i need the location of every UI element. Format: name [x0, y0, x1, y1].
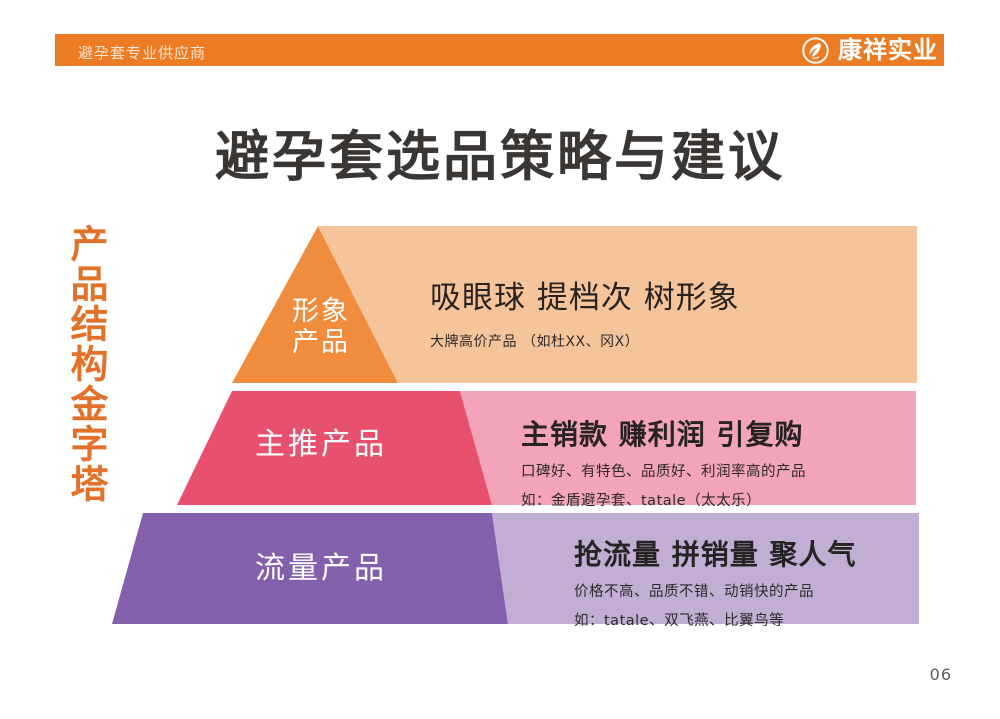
tier-2-label: 主推产品 — [238, 428, 404, 463]
tier-3-text-block: 抢流量 拼销量 聚人气 价格不高、品质不错、动销快的产品 如：tatale、双飞… — [574, 533, 857, 630]
tier-3-sub-line-1: 价格不高、品质不错、动销快的产品 — [574, 580, 857, 601]
tier-1-sub-line-1: 大牌高价产品 （如杜XX、冈X） — [430, 331, 740, 351]
tier-2-headline: 主销款 赚利润 引复购 — [521, 413, 806, 453]
swirl-leaf-logo-icon — [802, 37, 829, 64]
tier-3-label: 流量产品 — [238, 552, 404, 587]
slide-root: 避孕套专业供应商 康祥实业 避孕套选品策略与建议 产品结构金字塔 形象 产品 主… — [0, 0, 1000, 719]
tier-1-label: 形象 产品 — [276, 296, 366, 358]
tier-1-headline: 吸眼球 提档次 树形象 — [430, 272, 740, 317]
tier-3-headline: 抢流量 拼销量 聚人气 — [574, 533, 857, 573]
brand-name: 康祥实业 — [838, 38, 938, 62]
header-tagline: 避孕套专业供应商 — [78, 42, 206, 63]
tier-3-sub-line-2: 如：tatale、双飞燕、比翼鸟等 — [574, 609, 857, 630]
side-caption: 产品结构金字塔 — [60, 224, 106, 504]
page-number: 06 — [930, 665, 952, 684]
tier-2-text-block: 主销款 赚利润 引复购 口碑好、有特色、品质好、利润率高的产品 如：金盾避孕套、… — [521, 413, 806, 510]
tier-2-sub-line-1: 口碑好、有特色、品质好、利润率高的产品 — [521, 460, 806, 481]
tier-1-text-block: 吸眼球 提档次 树形象 大牌高价产品 （如杜XX、冈X） — [430, 272, 740, 351]
brand-logo: 康祥实业 — [802, 36, 938, 64]
tier-2-sub-line-2: 如：金盾避孕套、tatale（太太乐） — [521, 489, 806, 510]
page-title: 避孕套选品策略与建议 — [0, 112, 1000, 191]
